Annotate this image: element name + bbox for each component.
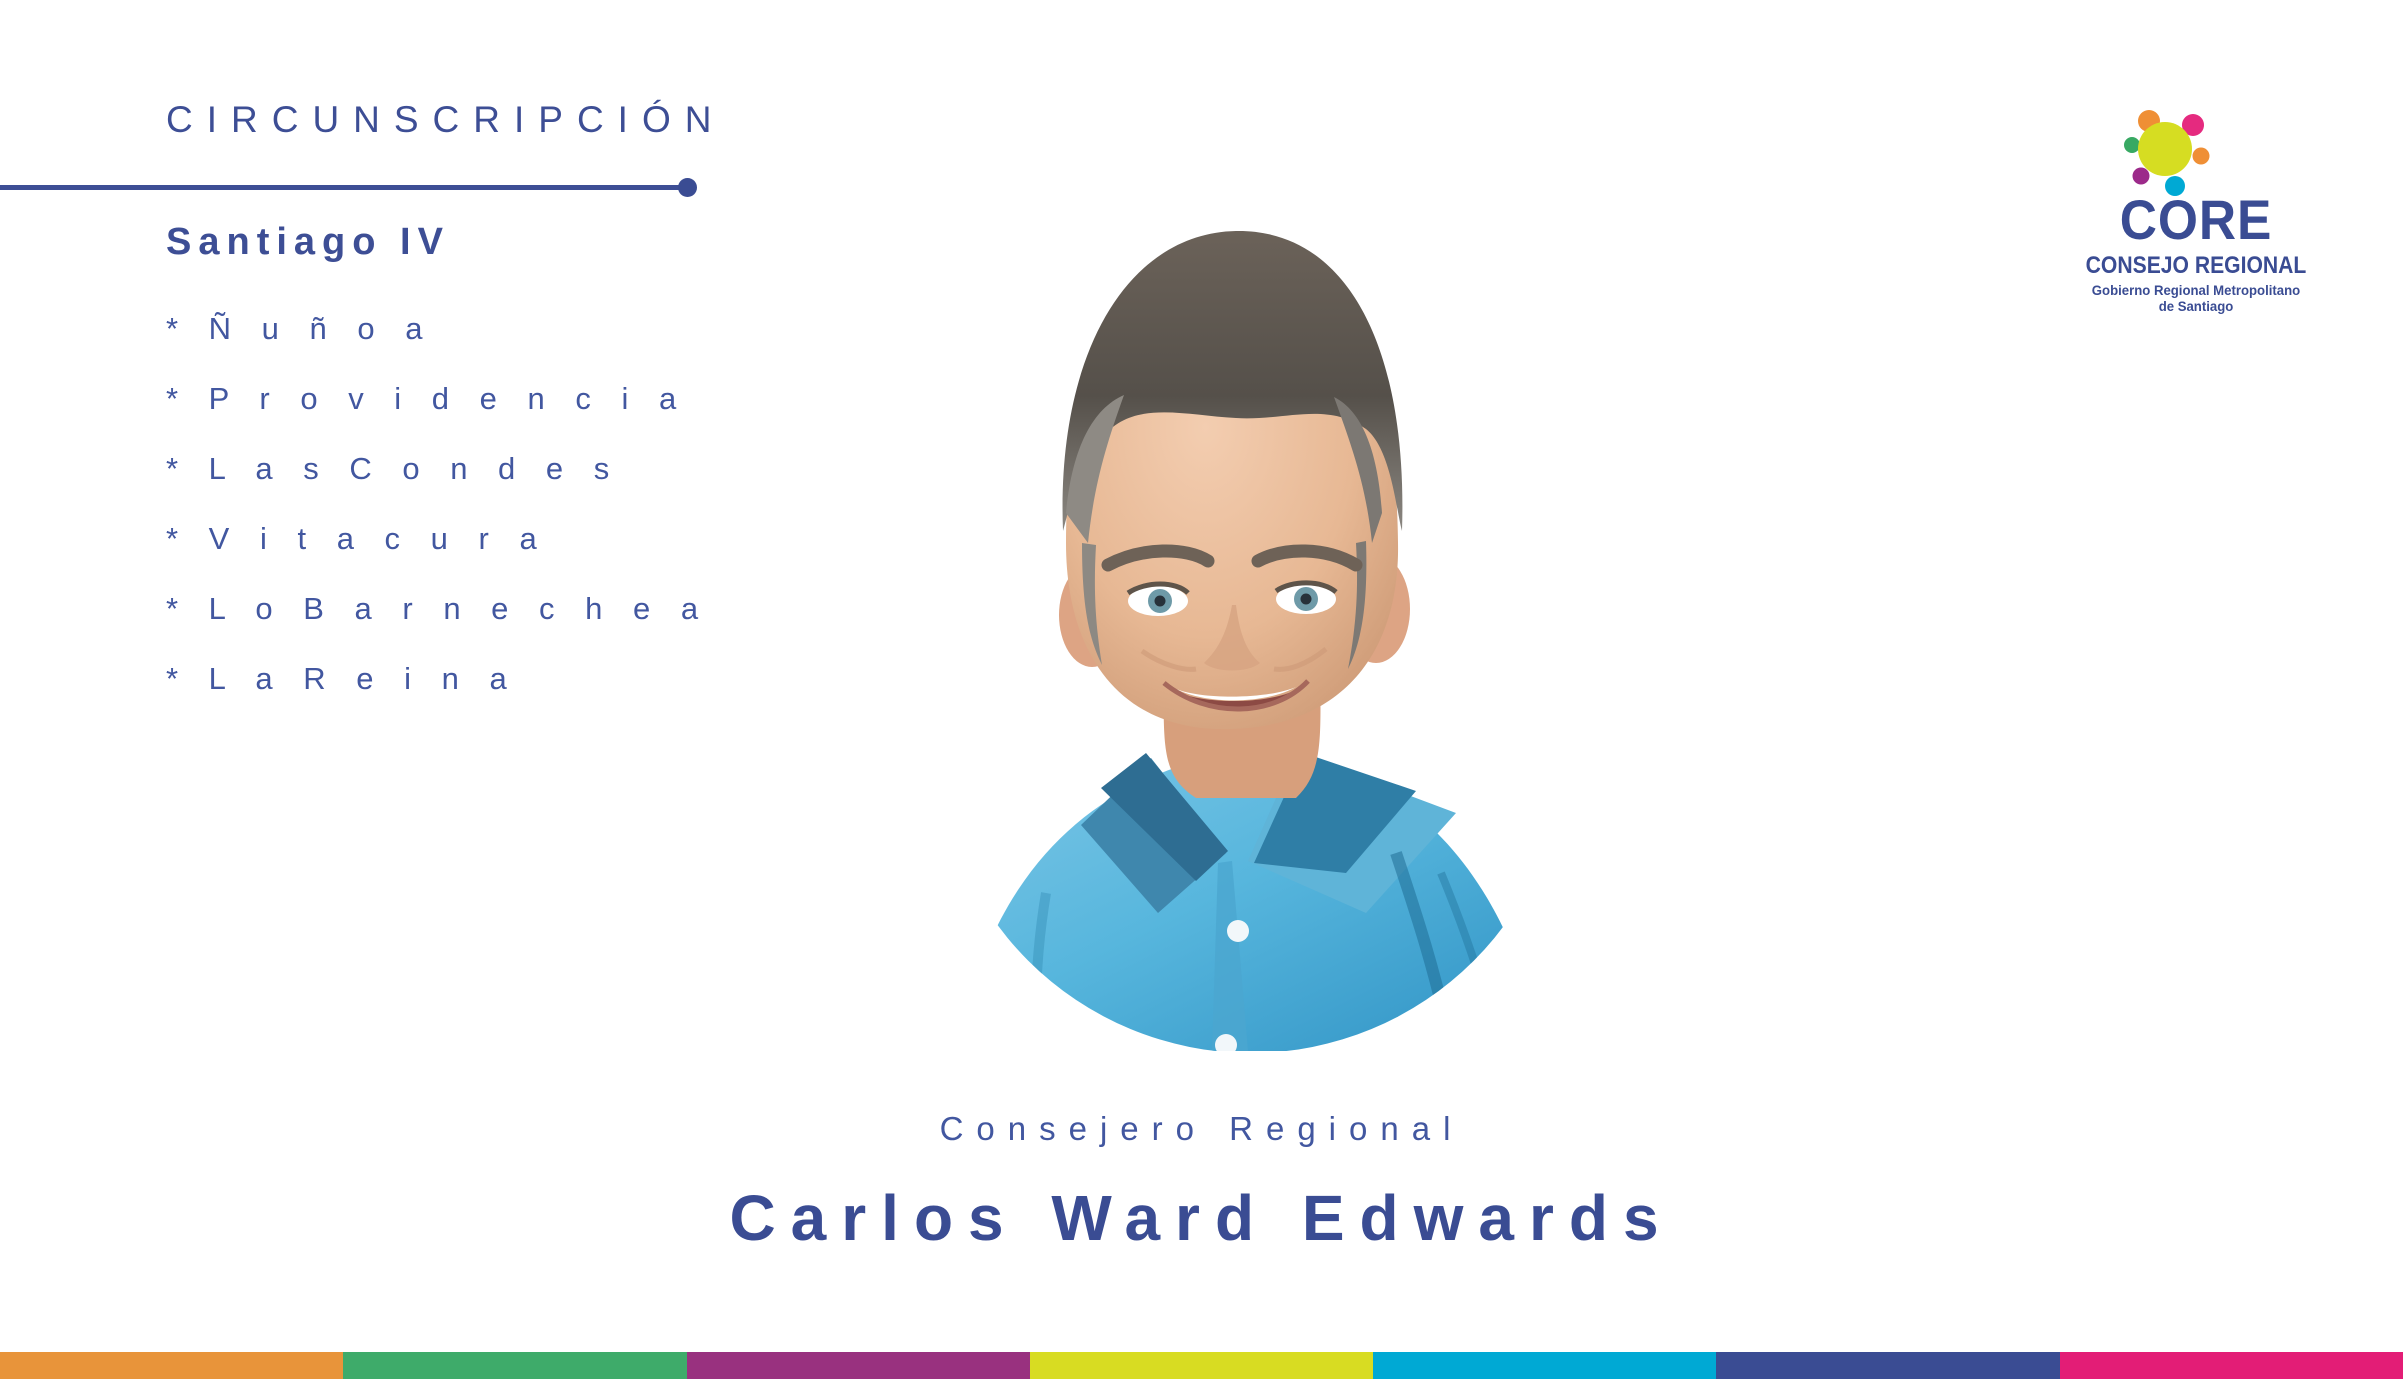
logo-org-line-1: Gobierno Regional Metropolitano xyxy=(2074,282,2318,298)
portrait-photo xyxy=(896,213,1556,1051)
sun-dots-icon xyxy=(2122,104,2230,196)
district-name: Santiago IV xyxy=(166,222,450,264)
color-segment xyxy=(343,1352,686,1379)
list-item: * V i t a c u r a xyxy=(166,504,709,574)
color-segment xyxy=(0,1352,343,1379)
core-logo: CORE CONSEJO REGIONAL Gobierno Regional … xyxy=(2066,104,2326,304)
color-segment xyxy=(1030,1352,1373,1379)
divider-line xyxy=(0,185,690,190)
color-segment xyxy=(1373,1352,1716,1379)
logo-org-line-2: de Santiago xyxy=(2074,298,2318,314)
portrait-illustration xyxy=(896,213,1556,1051)
person-name: Carlos Ward Edwards xyxy=(0,1186,2403,1250)
divider xyxy=(0,178,712,196)
logo-subtitle: CONSEJO REGIONAL xyxy=(2082,254,2311,278)
list-item: * L o B a r n e c h e a xyxy=(166,574,709,644)
list-item: * L a R e i n a xyxy=(166,644,709,714)
portrait-clip xyxy=(896,213,1556,1051)
commune-list: * Ñ u ñ o a * P r o v i d e n c i a * L … xyxy=(166,294,709,714)
footer-color-bar xyxy=(0,1352,2403,1379)
list-item: * P r o v i d e n c i a xyxy=(166,364,709,434)
list-item: * L a s C o n d e s xyxy=(166,434,709,504)
logo-acronym: CORE xyxy=(2076,192,2315,248)
slide-canvas: CIRCUNSCRIPCIÓN Santiago IV * Ñ u ñ o a … xyxy=(0,0,2403,1379)
color-segment xyxy=(687,1352,1030,1379)
divider-dot-icon xyxy=(678,178,697,197)
color-segment xyxy=(2060,1352,2403,1379)
logo-org-lines: Gobierno Regional Metropolitano de Santi… xyxy=(2074,282,2318,314)
color-segment xyxy=(1716,1352,2059,1379)
person-role: Consejero Regional xyxy=(0,1112,2403,1145)
section-label: CIRCUNSCRIPCIÓN xyxy=(166,101,725,138)
list-item: * Ñ u ñ o a xyxy=(166,294,709,364)
